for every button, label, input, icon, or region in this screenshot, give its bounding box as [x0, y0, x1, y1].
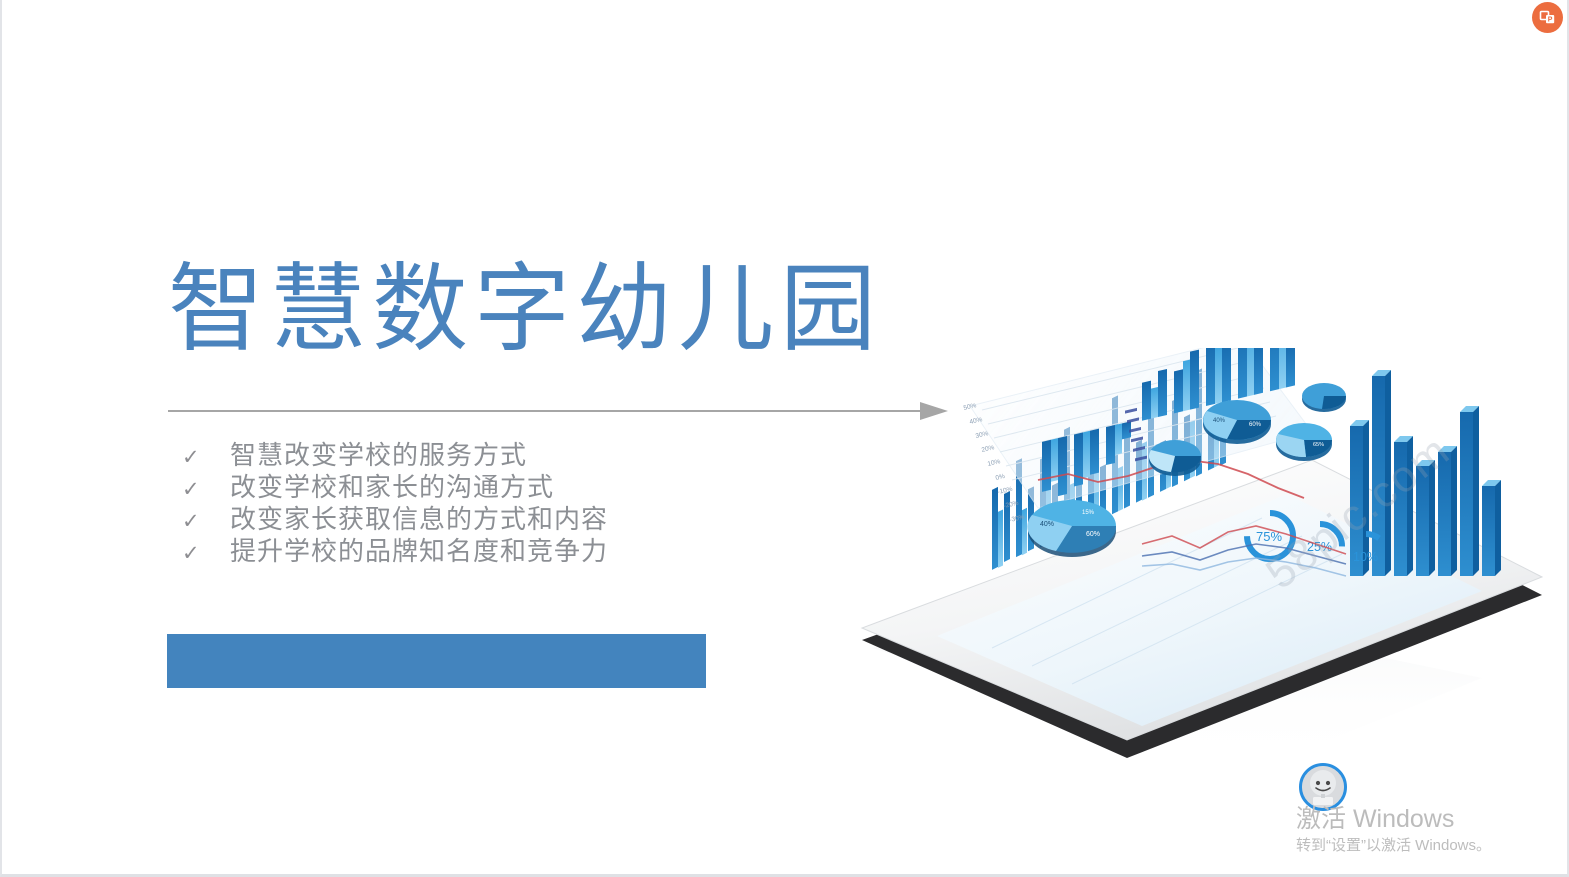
svg-text:40%: 40% — [1040, 521, 1054, 528]
check-icon: ✓ — [182, 543, 230, 564]
svg-text:65%: 65% — [1313, 442, 1324, 448]
list-item: ✓ 改变家长获取信息的方式和内容 — [182, 506, 742, 537]
content-placeholder-bar[interactable] — [167, 634, 706, 688]
activation-title: 激活 Windows — [1296, 805, 1556, 834]
pie-chart: 60% 40% — [1203, 400, 1271, 444]
robot-avatar-icon — [1299, 763, 1347, 811]
tall-3d-bars — [1350, 370, 1501, 576]
svg-text:40%: 40% — [1213, 418, 1226, 424]
pie-chart: 65% — [1276, 423, 1332, 461]
title-block: 智慧数字幼儿园 — [168, 258, 988, 362]
tablet-3d-analytics-illustration: 50% 40% 30% 20% 10% 0% -10% -20% -30% — [842, 348, 1569, 768]
pie-chart: 60% 40% 15% — [1027, 500, 1116, 557]
svg-text:60%: 60% — [1086, 531, 1100, 538]
svg-text:20%: 20% — [981, 444, 995, 454]
powerpoint-capture-icon[interactable]: P — [1532, 2, 1563, 33]
bullet-list: ✓ 智慧改变学校的服务方式 ✓ 改变学校和家长的沟通方式 ✓ 改变家长获取信息的… — [182, 442, 742, 570]
list-item: ✓ 智慧改变学校的服务方式 — [182, 442, 742, 473]
right-arrow-rule-icon — [168, 401, 952, 421]
pie-chart — [1149, 440, 1201, 476]
list-item-label: 改变学校和家长的沟通方式 — [230, 474, 554, 503]
pie-chart — [1302, 383, 1346, 412]
presentation-slide: P 智慧数字幼儿园 ✓ 智慧改变学校的服务方式 ✓ 改变学校和家长的沟通方式 ✓… — [0, 0, 1569, 877]
list-item-label: 改变家长获取信息的方式和内容 — [230, 506, 608, 535]
svg-text:10%: 10% — [1353, 550, 1378, 564]
svg-text:30%: 30% — [975, 430, 989, 440]
svg-text:60%: 60% — [1249, 422, 1262, 428]
check-icon: ✓ — [182, 447, 230, 468]
windows-activation-watermark: 激活 Windows 转到“设置”以激活 Windows。 — [1296, 805, 1556, 855]
svg-text:10%: 10% — [987, 458, 1001, 468]
page-title: 智慧数字幼儿园 — [168, 258, 988, 362]
list-item-label: 提升学校的品牌知名度和竞争力 — [230, 538, 608, 567]
svg-text:15%: 15% — [1082, 510, 1095, 516]
activation-subtitle: 转到“设置”以激活 Windows。 — [1296, 836, 1556, 856]
svg-text:0%: 0% — [995, 473, 1006, 482]
list-item: ✓ 改变学校和家长的沟通方式 — [182, 474, 742, 505]
arrow-line — [168, 410, 922, 412]
check-icon: ✓ — [182, 511, 230, 532]
list-item: ✓ 提升学校的品牌知名度和竞争力 — [182, 538, 742, 569]
svg-text:40%: 40% — [969, 416, 983, 426]
svg-text:P: P — [1548, 17, 1553, 24]
list-item-label: 智慧改变学校的服务方式 — [230, 442, 527, 471]
check-icon: ✓ — [182, 479, 230, 500]
